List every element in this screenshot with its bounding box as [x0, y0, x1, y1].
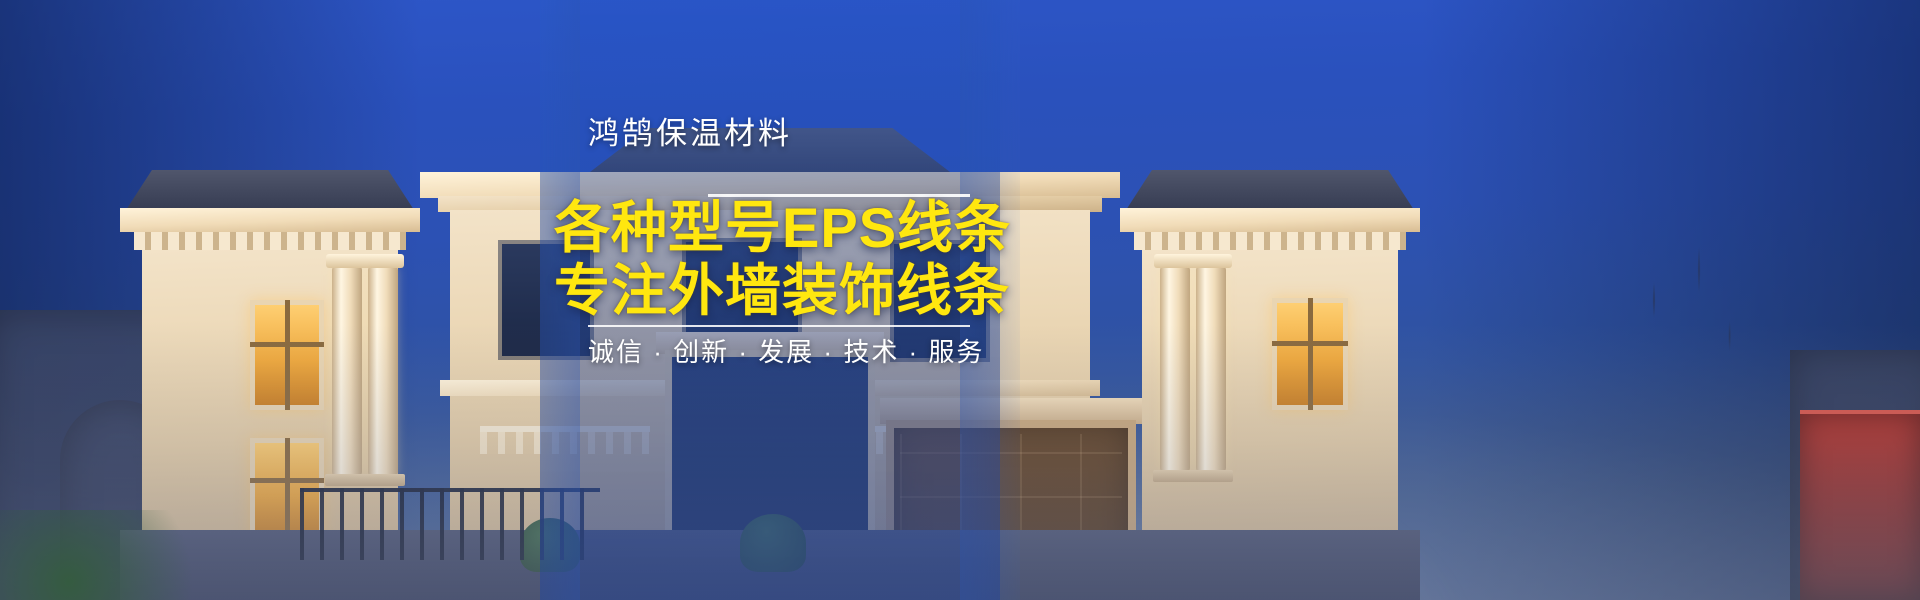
divider-below-headline: [588, 325, 970, 327]
wing-cornice-right: [1120, 208, 1420, 232]
headline-line-1: 各种型号EPS线条: [554, 196, 1014, 259]
headline-line-2: 专注外墙装饰线条: [554, 259, 1014, 322]
brand-name: 鸿鹄保温材料: [588, 108, 792, 153]
foreground-foliage: [0, 510, 230, 600]
wing-roof-right: [1126, 170, 1414, 210]
promo-banner: 鸿鹄保温材料 各种型号EPS线条 专注外墙装饰线条 诚信 · 创新 · 发展 ·…: [0, 0, 1920, 600]
headline: 各种型号EPS线条 专注外墙装饰线条: [554, 196, 1014, 322]
wing-roof-left: [126, 170, 414, 210]
wing-cornice-left: [120, 208, 420, 232]
wing-dentil-left: [134, 232, 406, 250]
banner-copy: 鸿鹄保温材料 各种型号EPS线条 专注外墙装饰线条 诚信 · 创新 · 发展 ·…: [540, 0, 1010, 600]
tagline: 诚信 · 创新 · 发展 · 技术 · 服务: [588, 332, 988, 369]
wing-dentil-right: [1134, 232, 1406, 250]
